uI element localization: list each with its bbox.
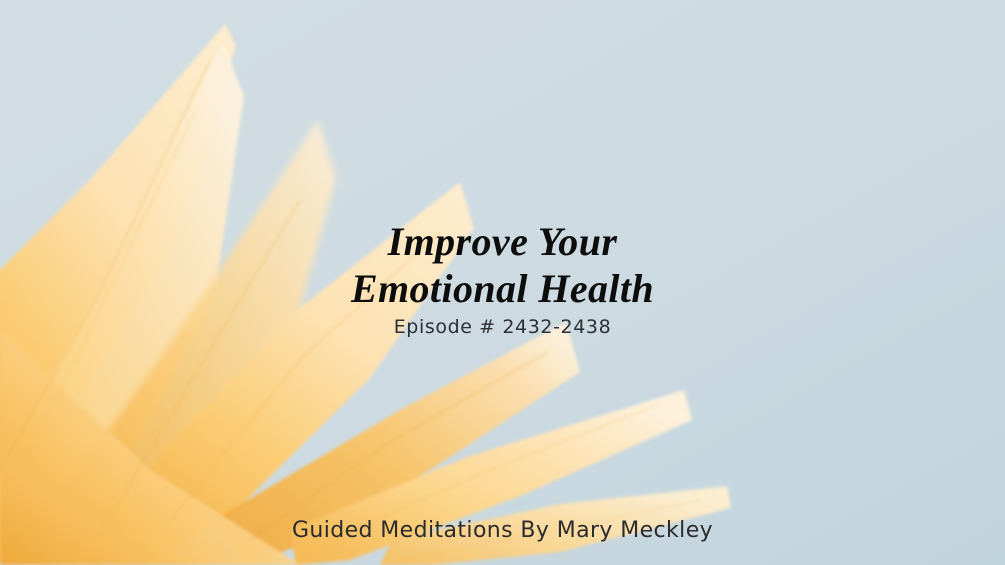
title-line-2: Emotional Health <box>0 265 1005 312</box>
slide-text-layer: Improve Your Emotional Health Episode # … <box>0 0 1005 565</box>
episode-number: Episode # 2432-2438 <box>0 316 1005 338</box>
attribution-footer: Guided Meditations By Mary Meckley <box>0 518 1005 543</box>
page-title: Improve Your Emotional Health <box>0 218 1005 312</box>
title-line-1: Improve Your <box>0 218 1005 265</box>
presentation-slide: Improve Your Emotional Health Episode # … <box>0 0 1005 565</box>
